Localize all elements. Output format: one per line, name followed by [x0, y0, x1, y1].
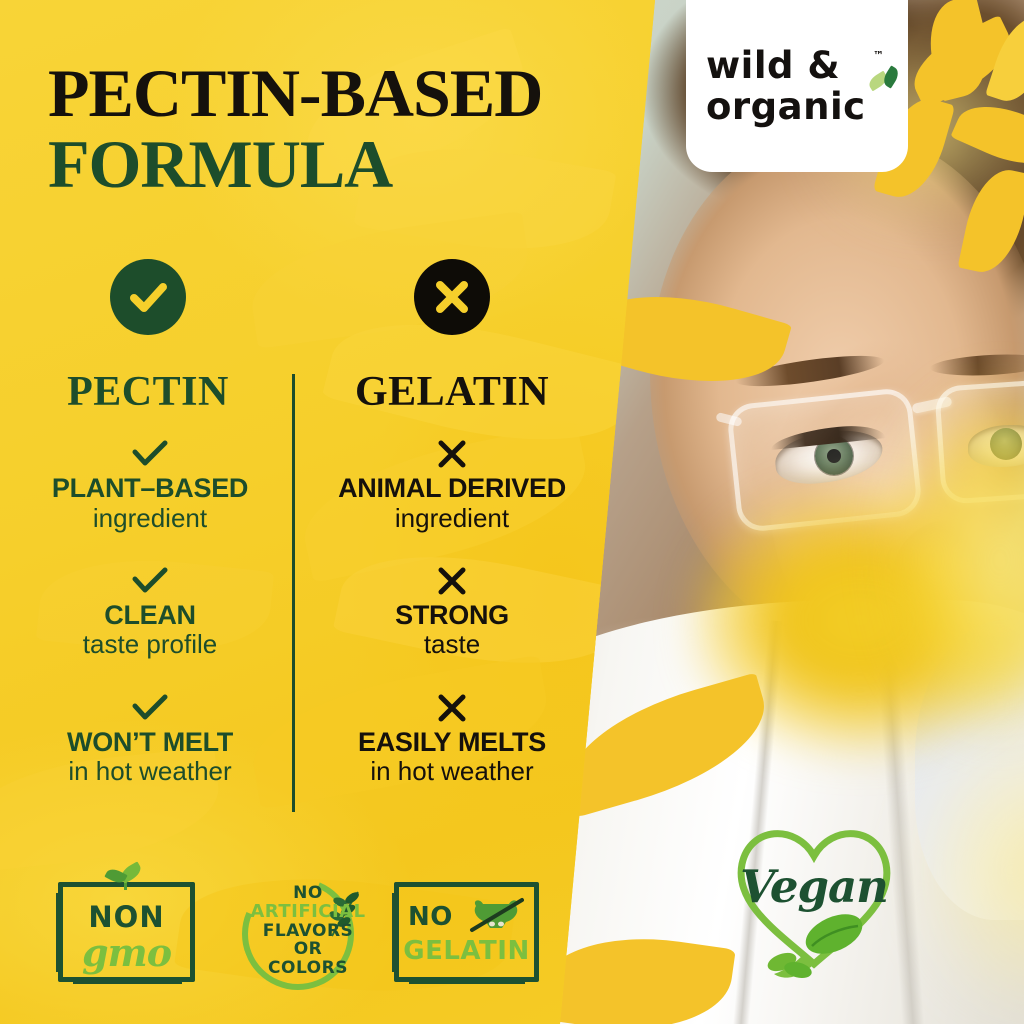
feature-subtitle: in hot weather	[326, 757, 578, 786]
feature-subtitle: ingredient	[24, 504, 276, 533]
badge-word-2: GELATIN	[394, 936, 539, 966]
feature-title: CLEAN	[24, 601, 276, 631]
badge-word-2: gmo	[58, 930, 195, 975]
feature-title: STRONG	[326, 601, 578, 631]
x-circle-icon	[414, 259, 490, 335]
badge-line-4: COLORS	[246, 959, 370, 977]
feature-title: WON’T MELT	[24, 728, 276, 758]
column-divider	[292, 374, 295, 812]
trademark-symbol: ™	[873, 49, 884, 62]
headline-line-2: FORMULA	[48, 133, 648, 196]
check-icon	[24, 690, 276, 726]
list-item: PLANT–BASED ingredient	[24, 436, 276, 533]
list-item: STRONG taste	[326, 563, 578, 660]
badge-line-2: ARTIFICIAL	[246, 902, 370, 921]
feature-title: EASILY MELTS	[326, 728, 578, 758]
feature-subtitle: taste	[326, 630, 578, 659]
badge-line-1: NO	[246, 884, 370, 902]
cross-icon	[326, 690, 578, 726]
gelatin-feature-list: ANIMAL DERIVED ingredient STRONG taste E…	[326, 436, 578, 816]
brand-logo: wild & organic ™	[702, 47, 892, 125]
no-cow-icon	[468, 896, 524, 936]
non-gmo-badge: NON gmo	[58, 882, 195, 982]
badge-word-1: NON	[58, 900, 195, 934]
no-artificial-flavors-or-colors-badge: NO ARTIFICIAL FLAVORS OR COLORS	[240, 872, 370, 994]
pectin-feature-list: PLANT–BASED ingredient CLEAN taste profi…	[24, 436, 276, 816]
feature-subtitle: in hot weather	[24, 757, 276, 786]
check-icon	[24, 436, 276, 472]
page-title: PECTIN-BASED FORMULA	[48, 62, 648, 195]
list-item: WON’T MELT in hot weather	[24, 690, 276, 787]
feature-title: PLANT–BASED	[24, 474, 276, 504]
logo-line-2: organic	[706, 88, 892, 125]
check-icon	[24, 563, 276, 599]
badge-lines: NO ARTIFICIAL FLAVORS OR COLORS	[246, 884, 370, 977]
cross-icon	[326, 563, 578, 599]
brand-logo-card[interactable]: wild & organic ™	[686, 0, 908, 172]
list-item: EASILY MELTS in hot weather	[326, 690, 578, 787]
no-gelatin-badge: NO GELATIN	[394, 882, 539, 982]
logo-line-1: wild &	[706, 47, 892, 84]
list-item: ANIMAL DERIVED ingredient	[326, 436, 578, 533]
feature-subtitle: ingredient	[326, 504, 578, 533]
list-item: CLEAN taste profile	[24, 563, 276, 660]
vegan-label: Vegan	[716, 860, 912, 913]
vegan-badge: Vegan	[716, 812, 912, 994]
feature-subtitle: taste profile	[24, 630, 276, 659]
promo-graphic: PECTIN-BASED FORMULA wild & organic ™ PE…	[0, 0, 1024, 1024]
column-header-pectin: PECTIN	[58, 368, 238, 416]
cross-icon	[326, 436, 578, 472]
headline-line-1: PECTIN-BASED	[48, 55, 542, 131]
badge-line-3: FLAVORS OR	[246, 922, 370, 959]
certification-badges: NON gmo NO ARTIFICIAL FLAVORS OR COLORS	[42, 872, 562, 997]
badge-word-1: NO	[408, 902, 453, 932]
feature-title: ANIMAL DERIVED	[326, 474, 578, 504]
column-header-gelatin: GELATIN	[336, 368, 568, 416]
check-circle-icon	[110, 259, 186, 335]
